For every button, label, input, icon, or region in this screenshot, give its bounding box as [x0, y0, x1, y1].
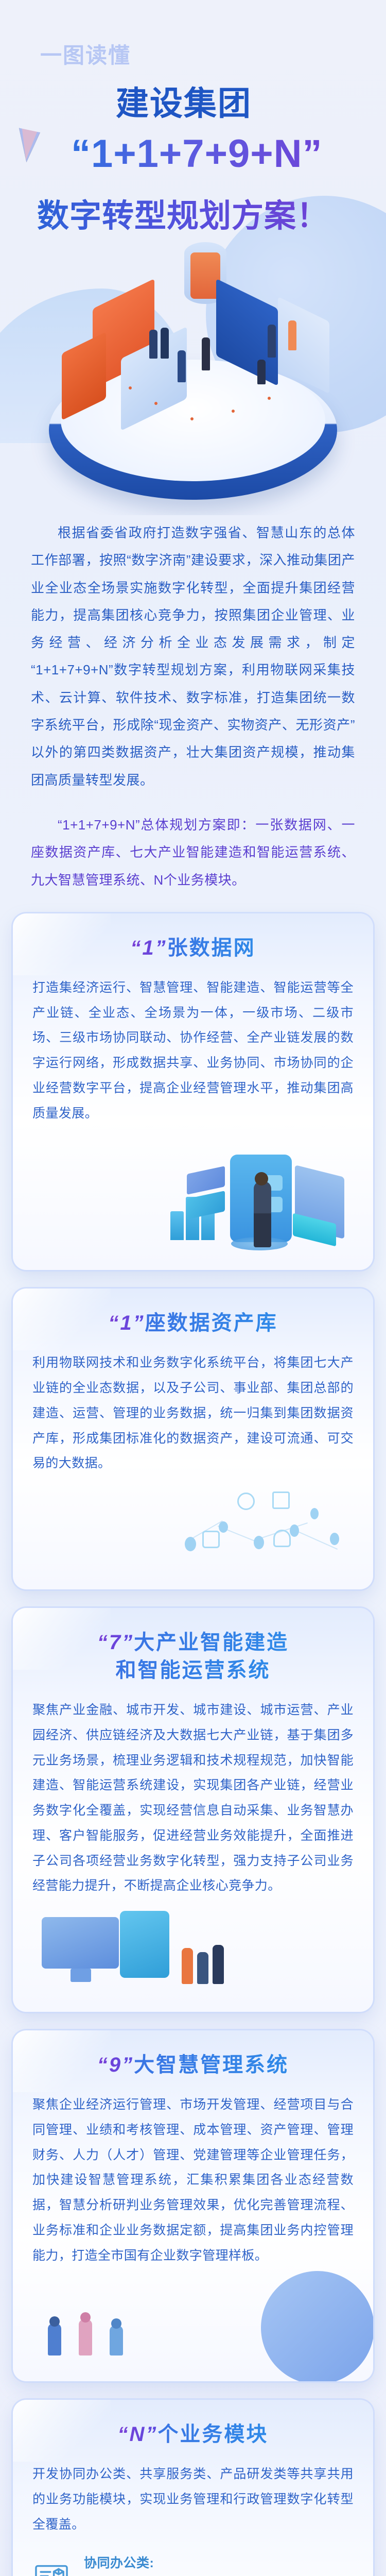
iso-person: [202, 337, 210, 370]
card-illustration-devices: [32, 1902, 354, 1989]
card-number: “7”: [97, 1631, 134, 1654]
list-item[interactable]: 协同办公类: 科技创新、管理创新、协同办公、台账管理、会议管理、公文办理、车辆管…: [32, 2553, 354, 2576]
illustration-person: [182, 1948, 193, 1984]
bar-chart-bar: [170, 1211, 184, 1240]
card-title-line-1: 大产业智能建造: [134, 1631, 289, 1654]
network-node: [310, 1508, 319, 1519]
cards-section: “1”张数据网 打造集经济运行、智慧管理、智能建造、智能运营等全产业链、全业态、…: [0, 894, 386, 2576]
bulb-icon: [237, 1493, 255, 1510]
card-illustration-people: [32, 2271, 354, 2359]
iso-person: [288, 320, 296, 350]
page-subtitle: 数字转型规划方案！: [37, 190, 329, 236]
monitor-icon: [42, 1917, 119, 1969]
card-title: “1”座数据资产库: [32, 1309, 354, 1337]
card-nine-management-systems[interactable]: “9”大智慧管理系统 聚焦企业经济运行管理、市场开发管理、经营项目与合同管理、业…: [13, 2030, 373, 2381]
module-text-block: 协同办公类: 科技创新、管理创新、协同办公、台账管理、会议管理、公文办理、车辆管…: [84, 2553, 354, 2576]
card-body-text: 聚焦企业经济运行管理、市场开发管理、经营项目与合同管理、业绩和考核管理、成本管理…: [32, 2092, 354, 2268]
card-illustration-dashboard: [32, 1129, 354, 1247]
card-title-line-2: 和智能运营系统: [116, 1659, 271, 1682]
card-body-text: 开发协同办公类、共享服务类、产品研发类等共享共用的业务功能模块，实现业务管理和行…: [32, 2462, 354, 2537]
card-number: “9”: [97, 2054, 134, 2076]
card-title-text: 张数据网: [167, 937, 256, 959]
iso-node-dot: [232, 410, 235, 413]
iso-node-dot: [190, 417, 194, 420]
iso-person: [268, 325, 276, 358]
decorative-triangle-icon: [12, 128, 40, 163]
card-number: “1”: [130, 937, 167, 959]
illustration-person: [213, 1945, 224, 1984]
module-list: 协同办公类: 科技创新、管理创新、协同办公、台账管理、会议管理、公文办理、车辆管…: [32, 2553, 354, 2576]
card-title: “1”张数据网: [32, 934, 354, 962]
iso-node-dot: [268, 397, 271, 400]
network-node: [185, 1537, 196, 1551]
intro-section: 根据省委省政府打造数字强省、智慧山东的总体工作部署，按照“数字济南”建设要求，深…: [0, 515, 386, 894]
card-number: “N”: [118, 2423, 158, 2446]
illustration-person: [254, 1181, 271, 1247]
intro-paragraph-1: 根据省委省政府打造数字强省、智慧山东的总体工作部署，按照“数字济南”建设要求，深…: [31, 519, 355, 794]
module-label: 协同办公类:: [84, 2553, 354, 2571]
card-body-text: 聚焦产业金融、城市开发、城市建设、城市运营、产业园经济、供应链经济及大数据七大产…: [32, 1698, 354, 1899]
illustration-person: [79, 2319, 92, 2355]
card-data-asset-library[interactable]: “1”座数据资产库 利用物联网技术和业务数字化系统平台，将集团七大产业链的全业态…: [13, 1289, 373, 1589]
iso-person: [178, 350, 186, 382]
card-title-text: 个业务模块: [157, 2423, 268, 2446]
hero-isometric-illustration: [0, 232, 386, 515]
hero-banner: 一图读懂 建设集团 “1+1+7+9+N” 数字转型规划方案！: [0, 0, 386, 515]
card-title: “7”大产业智能建造 和智能运营系统: [32, 1629, 354, 1684]
illustration-person: [110, 2326, 123, 2355]
intro-paragraph-2: “1+1+7+9+N”总体规划方案即：一张数据网、一座数据资产库、七大产业智能建…: [31, 811, 355, 894]
card-title: “9”大智慧管理系统: [32, 2051, 354, 2079]
monitor-stand: [71, 1969, 91, 1982]
iso-person: [161, 328, 169, 359]
tablet-icon: [120, 1911, 169, 1978]
page-eyebrow: 一图读懂: [40, 38, 131, 70]
iso-node-dot: [154, 402, 157, 405]
network-node: [330, 1533, 339, 1545]
document-icon: [272, 1492, 290, 1509]
card-illustration-network: [32, 1479, 354, 1567]
iso-person: [257, 360, 266, 384]
iso-node-dot: [129, 386, 132, 389]
floating-card: [187, 1191, 225, 1219]
cloud-icon: [273, 1530, 291, 1547]
card-body-text: 利用物联网技术和业务数字化系统平台，将集团七大产业链的全业态数据，以及子公司、事…: [32, 1350, 354, 1476]
floating-card: [187, 1166, 225, 1195]
monitor-cube-icon: [32, 2560, 71, 2576]
card-title: “N”个业务模块: [32, 2420, 354, 2448]
network-node: [219, 1521, 228, 1533]
decorative-corner-circle: [261, 2271, 373, 2381]
page-title: 建设集团: [116, 77, 252, 125]
page-title-formula: “1+1+7+9+N”: [71, 131, 323, 176]
card-seven-industries[interactable]: “7”大产业智能建造 和智能运营系统 聚焦产业金融、城市开发、城市建设、城市运营…: [13, 1608, 373, 2012]
illustration-person: [48, 2324, 61, 2355]
card-n-business-modules[interactable]: “N”个业务模块 开发协同办公类、共享服务类、产品研发类等共享共用的业务功能模块…: [13, 2400, 373, 2576]
card-data-network[interactable]: “1”张数据网 打造集经济运行、智慧管理、智能建造、智能运营等全产业链、全业态、…: [13, 913, 373, 1270]
module-value: 科技创新、管理创新、协同办公、台账管理、会议管理、公文办理、车辆管理、后勤管理: [84, 2574, 354, 2576]
card-number: “1”: [108, 1312, 145, 1334]
iso-person: [149, 330, 157, 359]
illustration-person: [197, 1952, 208, 1984]
card-title-text: 座数据资产库: [145, 1312, 278, 1334]
network-node: [254, 1536, 264, 1549]
briefcase-icon: [202, 1531, 220, 1548]
network-node: [290, 1524, 299, 1537]
card-body-text: 打造集经济运行、智慧管理、智能建造、智能运营等全产业链、全业态、全场景为一体，一…: [32, 975, 354, 1126]
card-title-text: 大智慧管理系统: [134, 2054, 289, 2076]
